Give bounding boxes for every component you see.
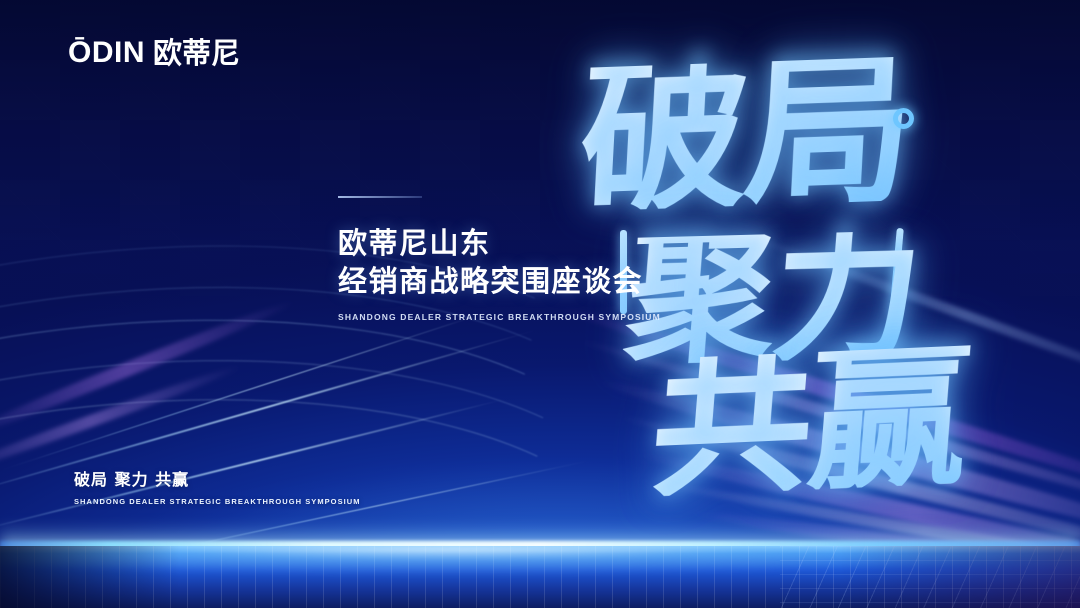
footer-tagline-en: SHANDONG DEALER STRATEGIC BREAKTHROUGH S… xyxy=(74,497,361,506)
poster-canvas: ŌDIN 欧蒂尼 破局 聚力 共赢 欧蒂尼山东 经销商战略突围座谈会 SHAND… xyxy=(0,0,1080,608)
footer-tagline-cn: 破局 聚力 共赢 xyxy=(74,466,361,490)
degree-ring-icon xyxy=(893,108,914,129)
floor-shade-left xyxy=(0,546,180,608)
hero-word-pojyu: 破局 xyxy=(577,56,913,212)
floor-shade-right xyxy=(840,546,1080,608)
floor-plane xyxy=(0,546,1080,608)
brand-logo-latin: ŌDIN xyxy=(68,38,145,68)
footer-tagline: 破局 聚力 共赢 SHANDONG DEALER STRATEGIC BREAK… xyxy=(74,466,361,506)
brand-logo-cjk: 欧蒂尼 xyxy=(153,39,240,68)
event-subtitle-en: SHANDONG DEALER STRATEGIC BREAKTHROUGH S… xyxy=(338,312,668,322)
event-title-block: 欧蒂尼山东 经销商战略突围座谈会 SHANDONG DEALER STRATEG… xyxy=(338,196,668,322)
event-title-line1: 欧蒂尼山东 xyxy=(338,224,668,262)
brand-logo[interactable]: ŌDIN 欧蒂尼 xyxy=(68,38,240,68)
event-title-line2: 经销商战略突围座谈会 xyxy=(338,262,668,300)
title-divider-rule xyxy=(338,196,422,198)
hero-word-gongying: 共赢 xyxy=(647,345,971,496)
